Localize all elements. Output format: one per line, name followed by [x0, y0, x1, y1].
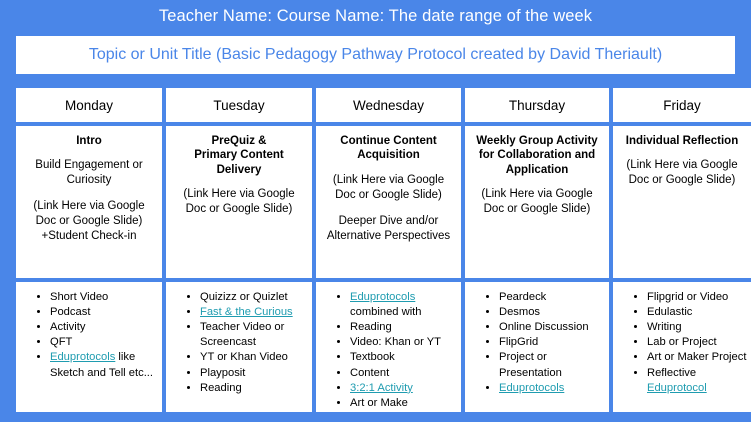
- description-heading: PreQuiz & Primary Content Delivery: [172, 134, 306, 177]
- activity-list-item: Content: [350, 366, 457, 381]
- activity-list-item: YT or Khan Video: [200, 350, 308, 365]
- day-header-wednesday[interactable]: Wednesday: [316, 88, 461, 122]
- activity-list-item: Video: Khan or YT: [350, 335, 457, 350]
- activity-list-item: Desmos: [499, 305, 605, 320]
- activity-list: PeardeckDesmosOnline DiscussionFlipGridP…: [469, 290, 605, 396]
- activity-list-item: Fast & the Curious: [200, 305, 308, 320]
- topic-title-box[interactable]: Topic or Unit Title (Basic Pedagogy Path…: [16, 36, 735, 74]
- day-header-label: Thursday: [509, 98, 565, 113]
- description-cell-tuesday[interactable]: PreQuiz & Primary Content Delivery (Link…: [166, 126, 312, 278]
- description-paragraph: (Link Here via Google Doc or Google Slid…: [322, 173, 455, 203]
- day-header-label: Friday: [663, 98, 701, 113]
- activity-cell-tuesday[interactable]: Quizizz or QuizletFast & the CuriousTeac…: [166, 282, 312, 412]
- activity-link[interactable]: Eduprotocols: [350, 291, 415, 303]
- activity-list-item: Peardeck: [499, 290, 605, 305]
- description-paragraph: (Link Here via Google Doc or Google Slid…: [22, 199, 156, 244]
- activity-list-item: Art or Make: [350, 396, 457, 411]
- activity-list: Eduprotocols combined withReadingVideo: …: [320, 290, 457, 411]
- activity-link[interactable]: Eduprotocols: [50, 351, 115, 363]
- day-header-label: Tuesday: [213, 98, 264, 113]
- activity-list-item: Edulastic: [647, 305, 747, 320]
- activity-list-item: Reflective Eduprotocol: [647, 366, 747, 396]
- activity-list-item: Short Video: [50, 290, 158, 305]
- activity-list-item: Eduprotocols: [499, 381, 605, 396]
- activity-list-item: Playposit: [200, 366, 308, 381]
- activity-list-item: Quizizz or Quizlet: [200, 290, 308, 305]
- description-cell-wednesday[interactable]: Continue Content Acquisition (Link Here …: [316, 126, 461, 278]
- description-heading: Continue Content Acquisition: [322, 134, 455, 163]
- activity-list-item: Reading: [350, 320, 457, 335]
- activity-list: Flipgrid or VideoEdulasticWritingLab or …: [617, 290, 747, 396]
- activity-list-item: Eduprotocols combined with: [350, 290, 457, 320]
- banner-title: Teacher Name: Course Name: The date rang…: [159, 7, 592, 26]
- description-cell-thursday[interactable]: Weekly Group Activity for Collaboration …: [465, 126, 609, 278]
- activity-list-item: Podcast: [50, 305, 158, 320]
- weekly-planner-slide: Teacher Name: Course Name: The date rang…: [0, 0, 751, 422]
- description-heading: Individual Reflection: [619, 134, 745, 148]
- week-grid: Monday Tuesday Wednesday Thursday Friday…: [16, 88, 735, 404]
- activity-list-item: Eduprotocols like Sketch and Tell etc...: [50, 350, 158, 380]
- activity-list: Quizizz or QuizletFast & the CuriousTeac…: [170, 290, 308, 396]
- activity-list-item: Activity: [50, 320, 158, 335]
- description-cell-friday[interactable]: Individual Reflection (Link Here via Goo…: [613, 126, 751, 278]
- topic-title: Topic or Unit Title (Basic Pedagogy Path…: [89, 46, 662, 64]
- activity-list-item: Reading: [200, 381, 308, 396]
- activity-link[interactable]: 3:2:1 Activity: [350, 382, 413, 394]
- activity-list-item: Textbook: [350, 350, 457, 365]
- activity-list-item: QFT: [50, 335, 158, 350]
- day-header-tuesday[interactable]: Tuesday: [166, 88, 312, 122]
- activity-list-item: Art or Maker Project: [647, 350, 747, 365]
- activity-link[interactable]: Eduprotocol: [647, 382, 707, 394]
- activity-list: Short VideoPodcastActivityQFTEduprotocol…: [20, 290, 158, 381]
- activity-link[interactable]: Fast & the Curious: [200, 306, 293, 318]
- description-paragraph: Deeper Dive and/or Alternative Perspecti…: [322, 214, 455, 244]
- description-paragraph: (Link Here via Google Doc or Google Slid…: [619, 158, 745, 188]
- day-header-thursday[interactable]: Thursday: [465, 88, 609, 122]
- activity-cell-monday[interactable]: Short VideoPodcastActivityQFTEduprotocol…: [16, 282, 162, 412]
- day-header-friday[interactable]: Friday: [613, 88, 751, 122]
- activity-list-item: Lab or Project: [647, 335, 747, 350]
- description-heading: Intro: [22, 134, 156, 148]
- activity-list-item: Project or Presentation: [499, 350, 605, 380]
- description-heading: Weekly Group Activity for Collaboration …: [471, 134, 603, 177]
- activity-list-item: Online Discussion: [499, 320, 605, 335]
- activity-list-item: 3:2:1 Activity: [350, 381, 457, 396]
- activity-cell-friday[interactable]: Flipgrid or VideoEdulasticWritingLab or …: [613, 282, 751, 412]
- day-header-label: Monday: [65, 98, 113, 113]
- description-cell-monday[interactable]: Intro Build Engagement or Curiosity (Lin…: [16, 126, 162, 278]
- description-paragraph: (Link Here via Google Doc or Google Slid…: [471, 187, 603, 217]
- header-banner: Teacher Name: Course Name: The date rang…: [0, 0, 751, 33]
- day-header-label: Wednesday: [353, 98, 424, 113]
- activity-cell-wednesday[interactable]: Eduprotocols combined withReadingVideo: …: [316, 282, 461, 412]
- activity-link[interactable]: Eduprotocols: [499, 382, 564, 394]
- activity-cell-thursday[interactable]: PeardeckDesmosOnline DiscussionFlipGridP…: [465, 282, 609, 412]
- activity-list-item: Writing: [647, 320, 747, 335]
- day-header-monday[interactable]: Monday: [16, 88, 162, 122]
- description-paragraph: Build Engagement or Curiosity: [22, 158, 156, 188]
- activity-list-item: Teacher Video or Screencast: [200, 320, 308, 350]
- activity-list-item: FlipGrid: [499, 335, 605, 350]
- activity-list-item: Flipgrid or Video: [647, 290, 747, 305]
- description-paragraph: (Link Here via Google Doc or Google Slid…: [172, 187, 306, 217]
